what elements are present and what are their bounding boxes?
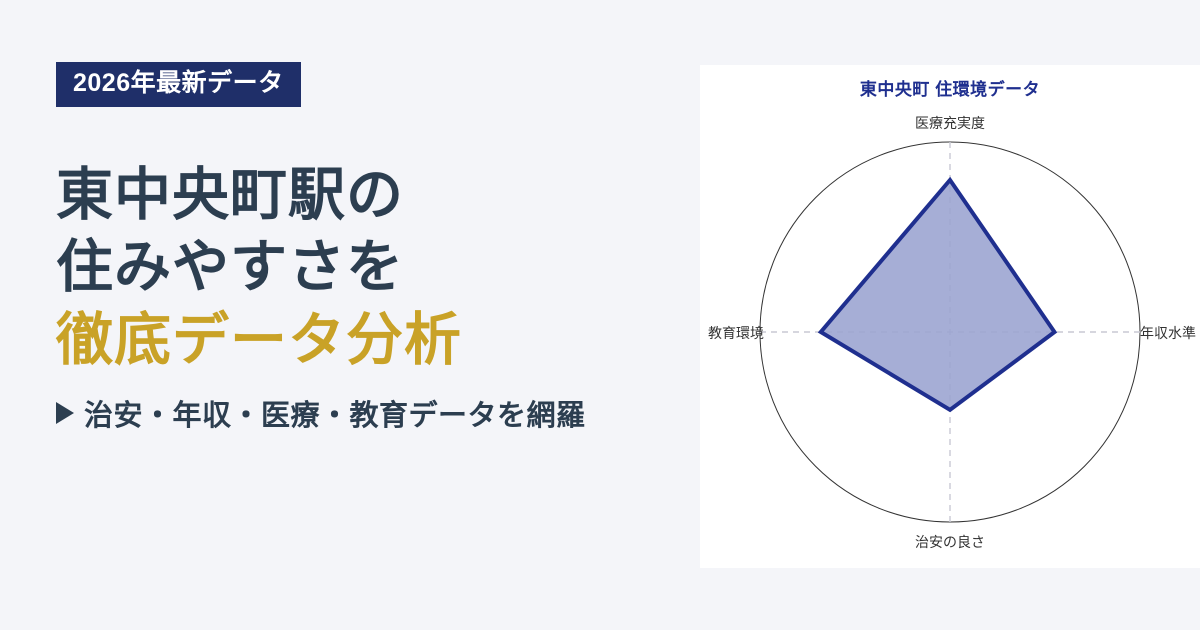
headline-line-3: 徹底データ分析 — [56, 304, 700, 376]
radar-chart-panel: 東中央町 住環境データ 医療充実度 年収水準 治安の良さ 教育環境 — [700, 65, 1200, 568]
axis-label-income: 年収水準 — [1140, 323, 1196, 343]
subtitle-text: 治安・年収・医療・教育データを網羅 — [84, 392, 586, 434]
poster-canvas: 2026年最新データ 東中央町駅の 住みやすさを 徹底データ分析 治安・年収・医… — [0, 0, 1200, 630]
radar-chart-svg — [700, 65, 1200, 568]
headline-line-1: 東中央町駅の — [56, 159, 700, 231]
axis-label-education: 教育環境 — [708, 323, 764, 343]
radar-series-polygon — [821, 180, 1055, 410]
headline-line-2: 住みやすさを — [56, 231, 700, 303]
triangle-right-icon — [56, 402, 74, 424]
subtitle: 治安・年収・医療・教育データを網羅 — [56, 392, 700, 434]
page-title: 東中央町駅の 住みやすさを 徹底データ分析 — [56, 159, 700, 376]
axis-label-security: 治安の良さ — [700, 532, 1200, 552]
latest-data-badge: 2026年最新データ — [56, 62, 301, 107]
left-text-pane: 2026年最新データ 東中央町駅の 住みやすさを 徹底データ分析 治安・年収・医… — [0, 0, 700, 630]
axis-label-medical: 医療充実度 — [700, 113, 1200, 133]
